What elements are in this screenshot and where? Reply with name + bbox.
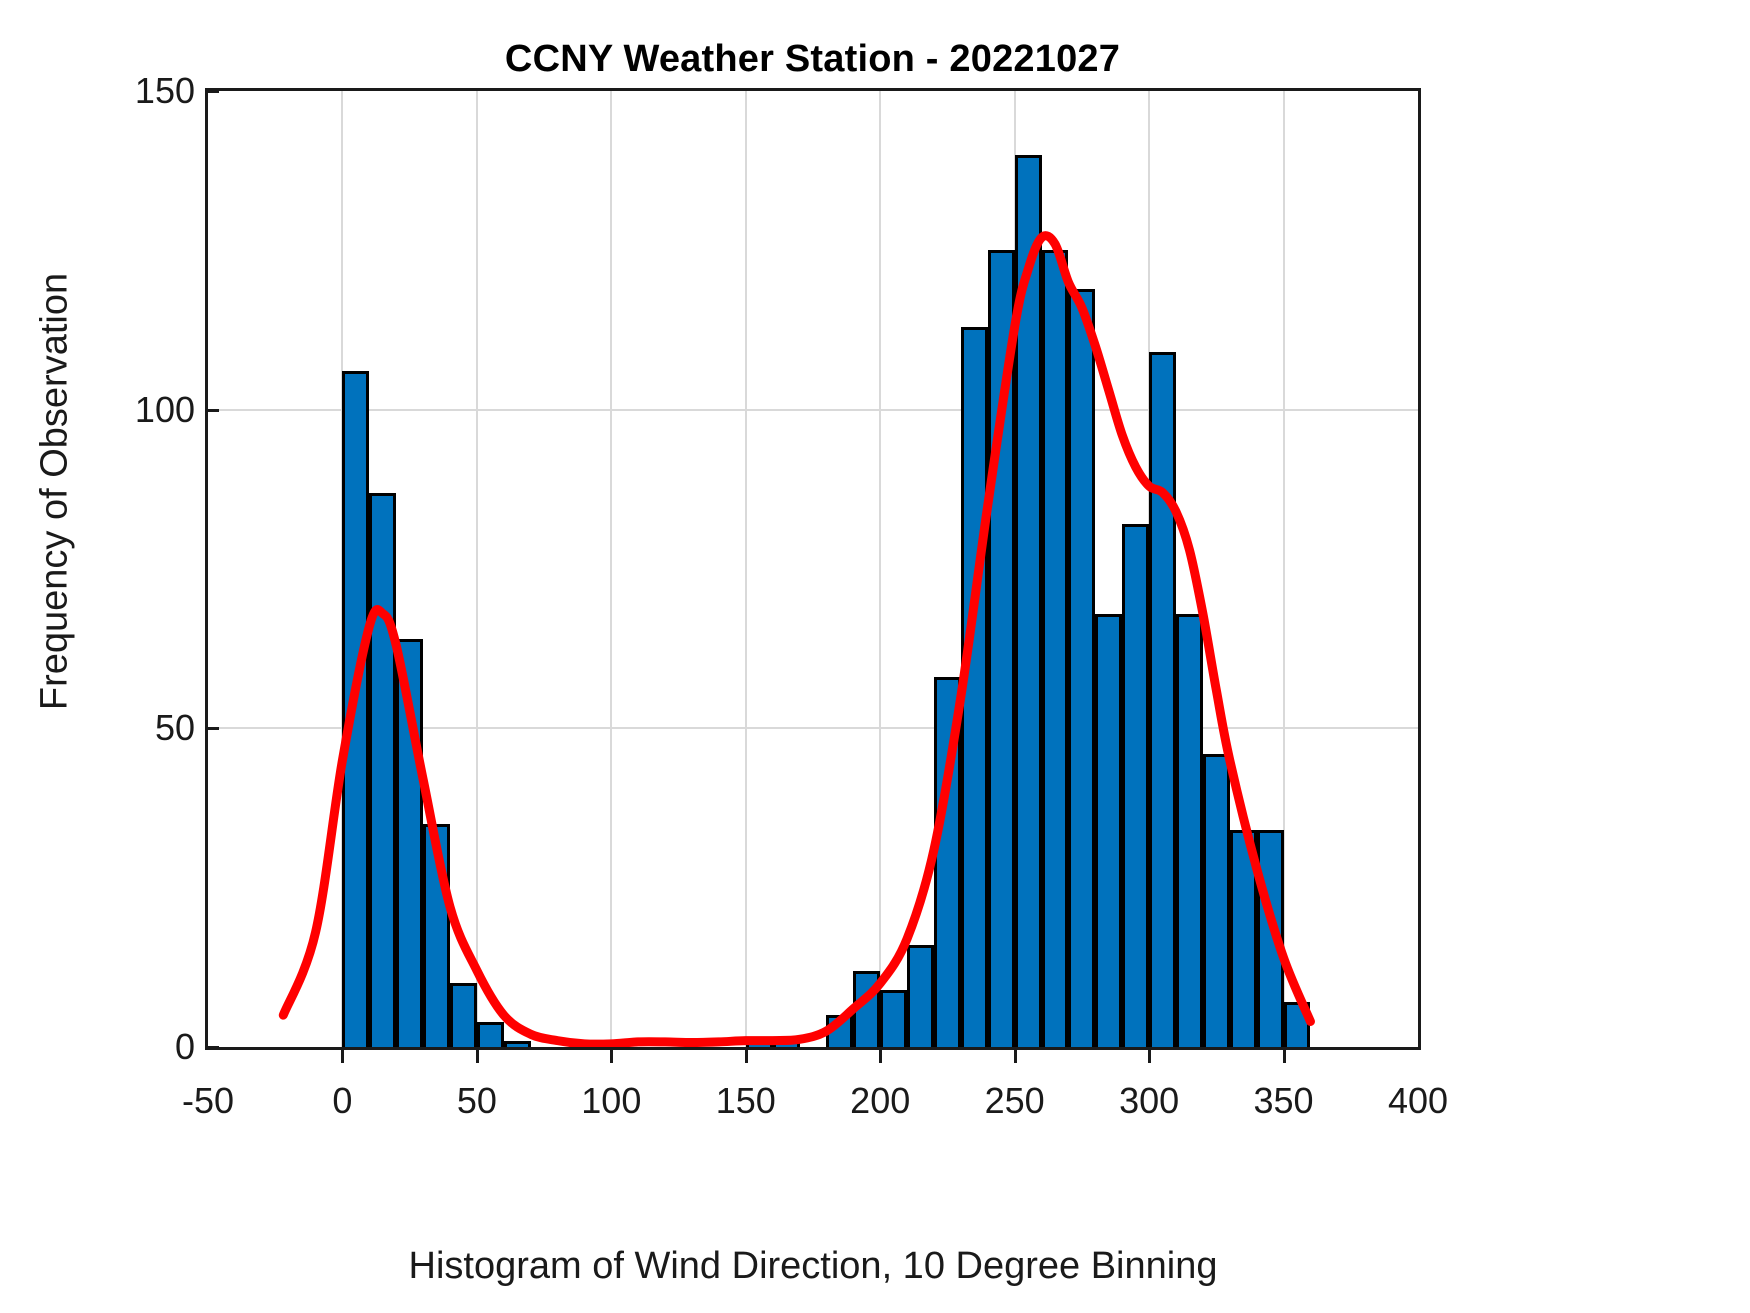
x-tick-mark bbox=[745, 1050, 748, 1063]
kde-curve bbox=[208, 91, 1418, 1047]
y-axis-label: Frequency of Observation bbox=[34, 12, 77, 972]
x-tick-mark bbox=[476, 1050, 479, 1063]
y-tick-mark bbox=[206, 1046, 219, 1049]
page-title: CCNY Weather Station - 20221027 bbox=[205, 38, 1420, 81]
x-tick-mark bbox=[341, 1050, 344, 1063]
x-axis: -50050100150200250300350400 bbox=[205, 1050, 1421, 1120]
y-tick-label: 0 bbox=[45, 1026, 195, 1068]
kde-curve-path bbox=[283, 236, 1310, 1044]
y-tick-mark bbox=[206, 727, 219, 730]
x-tick-mark bbox=[879, 1050, 882, 1063]
x-tick-mark bbox=[1283, 1050, 1286, 1063]
x-tick-mark bbox=[1148, 1050, 1151, 1063]
chart-figure: CCNY Weather Station - 20221027 05010015… bbox=[0, 0, 1750, 1313]
y-tick-mark bbox=[206, 90, 219, 93]
plot-area bbox=[205, 88, 1421, 1050]
x-tick-mark bbox=[610, 1050, 613, 1063]
x-tick-label: 400 bbox=[1318, 1080, 1518, 1122]
x-axis-label: Histogram of Wind Direction, 10 Degree B… bbox=[205, 1245, 1421, 1288]
kde-curve-svg bbox=[208, 91, 1418, 1047]
x-tick-mark bbox=[1014, 1050, 1017, 1063]
y-tick-mark bbox=[206, 409, 219, 412]
